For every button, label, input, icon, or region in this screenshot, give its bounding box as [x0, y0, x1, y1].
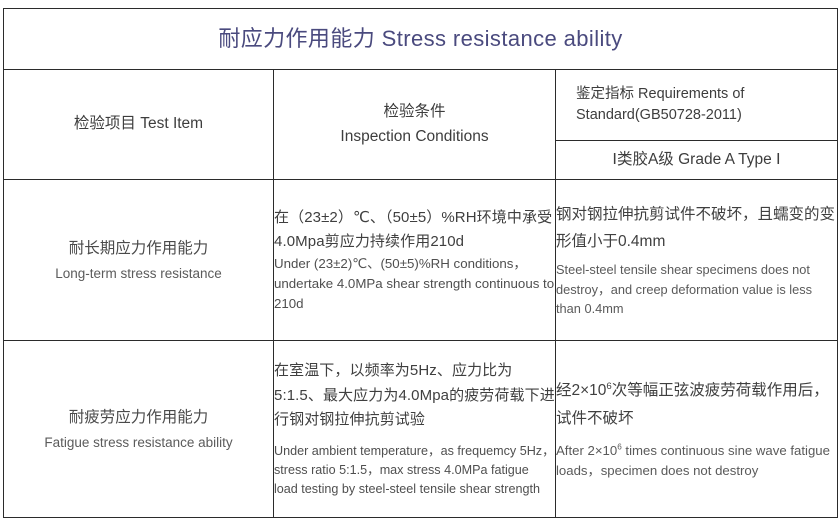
row-2-conditions: 在室温下，以频率为5Hz、应力比为5:1.5、最大应力为4.0Mpa的疲劳荷载下… — [274, 341, 556, 518]
row-1-conditions-zh: 在（23±2）℃、（50±5）%RH环境中承受4.0Mpa剪应力持续作用210d — [274, 206, 555, 255]
row-2-conditions-zh: 在室温下，以频率为5Hz、应力比为5:1.5、最大应力为4.0Mpa的疲劳荷载下… — [274, 359, 555, 432]
header-inspection-conditions-en: Inspection Conditions — [284, 125, 545, 149]
header-test-item-label: 检验项目 Test Item — [14, 112, 263, 136]
row-1-requirement-zh: 钢对钢拉伸抗剪试件不破坏，且蠕变的变形值小于0.4mm — [556, 201, 837, 256]
row-2-requirement-zh-pre: 经2×10 — [556, 382, 606, 399]
row-1-conditions-en: Under (23±2)℃、(50±5)%RH conditions，under… — [274, 254, 555, 314]
row-2-conditions-en: Under ambient temperature，as frequemcy 5… — [274, 442, 555, 499]
page-title: 耐应力作用能力 Stress resistance ability — [218, 26, 622, 51]
row-1-requirement: 钢对钢拉伸抗剪试件不破坏，且蠕变的变形值小于0.4mm Steel-steel … — [556, 180, 838, 341]
header-requirements-standard: 鉴定指标 Requirements of Standard(GB50728-20… — [556, 70, 837, 141]
header-inspection-conditions-zh: 检验条件 — [284, 100, 545, 124]
row-2-requirement-zh: 经2×106次等幅正弦波疲劳荷载作用后，试件不破坏 — [556, 377, 837, 433]
header-requirements-standard-row: 鉴定指标 Requirements of Standard(GB50728-20… — [556, 70, 837, 141]
row-2-requirement: 经2×106次等幅正弦波疲劳荷载作用后，试件不破坏 After 2×106 ti… — [556, 341, 838, 518]
header-row: 检验项目 Test Item 检验条件 Inspection Condition… — [4, 70, 838, 180]
row-1-conditions: 在（23±2）℃、（50±5）%RH环境中承受4.0Mpa剪应力持续作用210d… — [274, 180, 556, 341]
row-2-test-item: 耐疲劳应力作用能力 Fatigue stress resistance abil… — [4, 341, 274, 518]
table-row: 耐疲劳应力作用能力 Fatigue stress resistance abil… — [4, 341, 838, 518]
header-requirements-subtable: 鉴定指标 Requirements of Standard(GB50728-20… — [556, 70, 837, 179]
header-test-item-inner: 检验项目 Test Item — [4, 112, 273, 136]
header-inspection-conditions-inner: 检验条件 Inspection Conditions — [274, 100, 555, 148]
row-1-requirement-en: Steel-steel tensile shear specimens does… — [556, 260, 837, 319]
spec-table-page: 耐应力作用能力 Stress resistance ability 检验项目 T… — [0, 0, 840, 521]
row-2-requirement-en-pre: After 2×10 — [556, 443, 617, 458]
table-title-cell: 耐应力作用能力 Stress resistance ability — [4, 9, 838, 70]
row-2-test-item-en: Fatigue stress resistance ability — [4, 433, 273, 453]
header-grade-label: Ⅰ类胶A级 Grade A Type Ⅰ — [556, 141, 837, 180]
row-2-test-item-zh: 耐疲劳应力作用能力 — [4, 406, 273, 429]
table-row: 耐长期应力作用能力 Long-term stress resistance 在（… — [4, 180, 838, 341]
header-requirements-cell: 鉴定指标 Requirements of Standard(GB50728-20… — [556, 70, 838, 180]
row-1-test-item: 耐长期应力作用能力 Long-term stress resistance — [4, 180, 274, 341]
header-test-item-cell: 检验项目 Test Item — [4, 70, 274, 180]
row-2-requirement-en: After 2×106 times continuous sine wave f… — [556, 441, 837, 481]
header-inspection-conditions-cell: 检验条件 Inspection Conditions — [274, 70, 556, 180]
row-1-test-item-zh: 耐长期应力作用能力 — [4, 237, 273, 260]
title-row: 耐应力作用能力 Stress resistance ability — [4, 9, 838, 70]
header-grade-row: Ⅰ类胶A级 Grade A Type Ⅰ — [556, 141, 837, 180]
stress-resistance-table: 耐应力作用能力 Stress resistance ability 检验项目 T… — [3, 8, 838, 518]
row-1-test-item-en: Long-term stress resistance — [4, 264, 273, 284]
